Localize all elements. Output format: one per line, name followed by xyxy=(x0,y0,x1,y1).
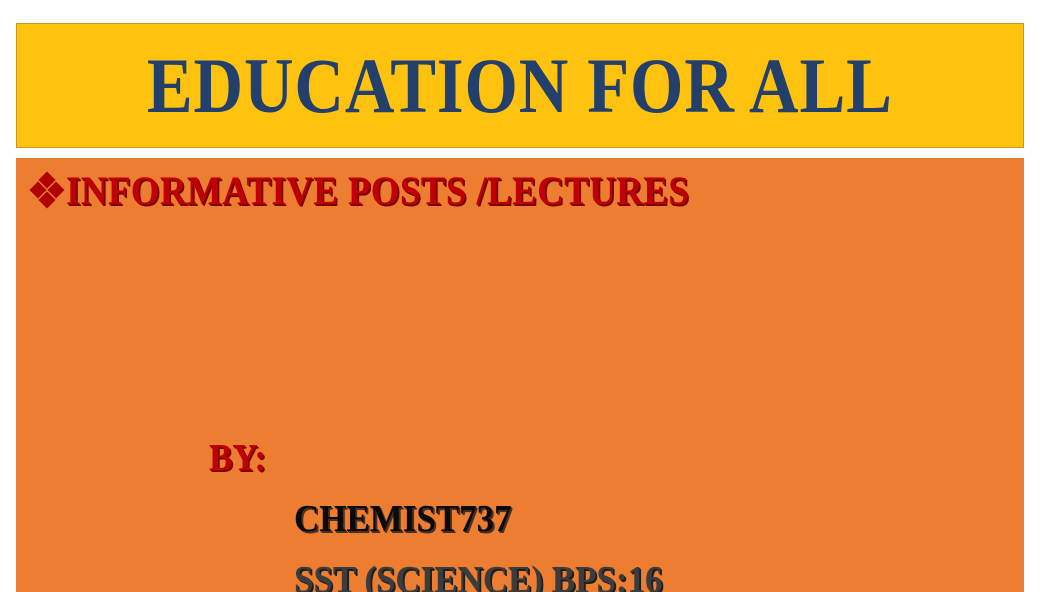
author-name: CHEMIST737 xyxy=(294,500,512,538)
section-heading: INFORMATIVE POSTS /LECTURES xyxy=(66,170,689,212)
slide-canvas: EDUCATION FOR ALL INFORMATIVE POSTS /LEC… xyxy=(0,0,1040,592)
by-label: BY: xyxy=(209,439,266,477)
diamond-bullet-icon xyxy=(30,171,64,211)
heading-row: INFORMATIVE POSTS /LECTURES xyxy=(30,170,743,212)
title-banner: EDUCATION FOR ALL xyxy=(16,23,1024,148)
author-designation: SST (SCIENCE) BPS:16 xyxy=(294,561,662,592)
page-title: EDUCATION FOR ALL xyxy=(147,47,893,125)
content-panel: INFORMATIVE POSTS /LECTURES BY: CHEMIST7… xyxy=(16,158,1024,592)
